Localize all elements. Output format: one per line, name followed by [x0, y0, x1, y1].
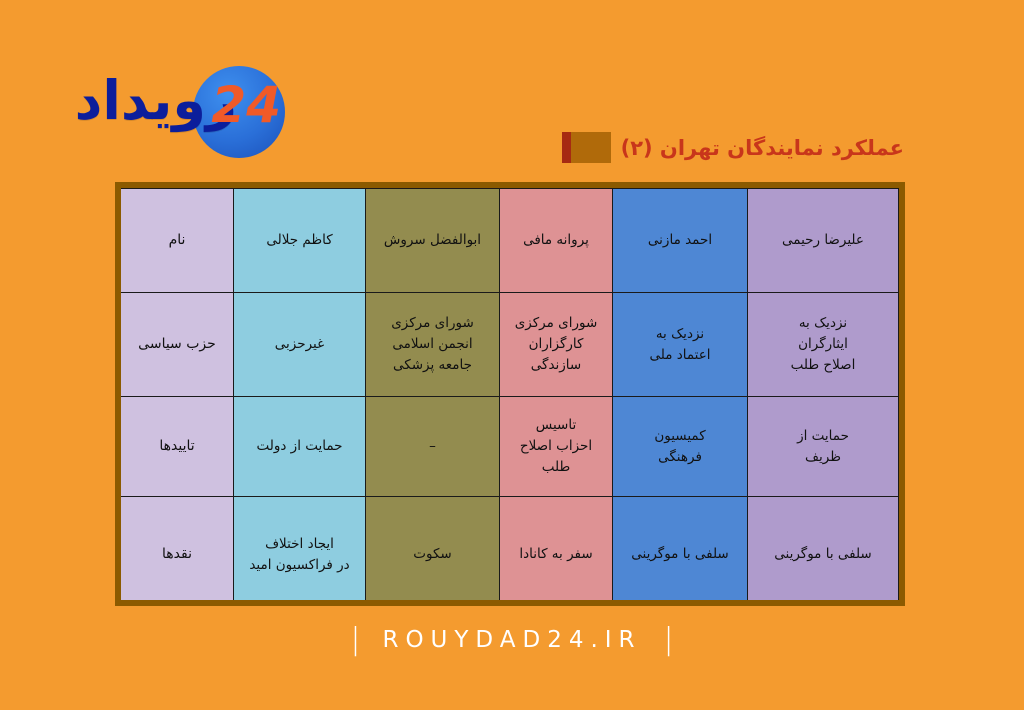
cell-name-ahmad-mazani: احمد مازنی	[613, 189, 748, 293]
table-row-criticisms: سلفی با موگرینی سلفی با موگرینی سفر به ک…	[121, 497, 899, 607]
table-row-party: نزدیک بهایثارگراناصلاح طلب نزدیک بهاعتما…	[121, 293, 899, 397]
cell-endorsements-kazem-jalali: حمایت از دولت	[234, 397, 366, 497]
cell-criticisms-kazem-jalali: ایجاد اختلافدر فراکسیون امید	[234, 497, 366, 607]
cell-name-kazem-jalali: کاظم جلالی	[234, 189, 366, 293]
cell-endorsements-ahmad-mazani: کمیسیونفرهنگی	[613, 397, 748, 497]
footer-url[interactable]: ROUYDAD24.IR	[382, 627, 641, 653]
row-header-name: نام	[121, 189, 234, 293]
cell-criticisms-ahmad-mazani: سلفی با موگرینی	[613, 497, 748, 607]
cell-criticisms-alireza-rahimi: سلفی با موگرینی	[748, 497, 899, 607]
title-accent-box	[571, 132, 611, 163]
cell-party-ahmad-mazani: نزدیک بهاعتماد ملی	[613, 293, 748, 397]
cell-party-kazem-jalali: غیرحزبی	[234, 293, 366, 397]
cell-criticisms-abolfazl-soroush: سکوت	[366, 497, 500, 607]
cell-name-alireza-rahimi: علیرضا رحیمی	[748, 189, 899, 293]
table-row-endorsements: حمایت ازظریف کمیسیونفرهنگی تاسیساحزاب اص…	[121, 397, 899, 497]
cell-criticisms-parvaneh-mafi: سفر به کانادا	[500, 497, 613, 607]
page-title-row: عملکرد نمایندگان تهران (۲)	[562, 132, 904, 163]
row-header-endorsements: تاییدها	[121, 397, 234, 497]
cell-endorsements-abolfazl-soroush: –	[366, 397, 500, 497]
cell-party-abolfazl-soroush: شورای مرکزیانجمن اسلامیجامعه پزشکی	[366, 293, 500, 397]
cell-endorsements-alireza-rahimi: حمایت ازظریف	[748, 397, 899, 497]
title-accent-bar	[562, 132, 571, 163]
row-header-party: حزب سیاسی	[121, 293, 234, 397]
site-logo[interactable]: رویداد 24	[115, 60, 285, 160]
cell-endorsements-parvaneh-mafi: تاسیساحزاب اصلاحطلب	[500, 397, 613, 497]
comparison-table: علیرضا رحیمی احمد مازنی پروانه مافی ابوا…	[120, 188, 899, 606]
footer-divider-left: |	[350, 625, 360, 655]
footer-divider-right: |	[664, 625, 674, 655]
title-accent-block	[562, 132, 611, 163]
cell-party-alireza-rahimi: نزدیک بهایثارگراناصلاح طلب	[748, 293, 899, 397]
cell-party-parvaneh-mafi: شورای مرکزیکارگزارانسازندگی	[500, 293, 613, 397]
cell-name-abolfazl-soroush: ابوالفضل سروش	[366, 189, 500, 293]
row-header-criticisms: نقدها	[121, 497, 234, 607]
table-row-name: علیرضا رحیمی احمد مازنی پروانه مافی ابوا…	[121, 189, 899, 293]
comparison-table-container: رویداد علیرضا رحیمی احمد مازنی پروانه ما…	[115, 182, 905, 606]
cell-name-parvaneh-mafi: پروانه مافی	[500, 189, 613, 293]
logo-number: 24	[211, 80, 281, 130]
page-title: عملکرد نمایندگان تهران (۲)	[621, 136, 904, 160]
footer: | ROUYDAD24.IR |	[0, 625, 1024, 655]
